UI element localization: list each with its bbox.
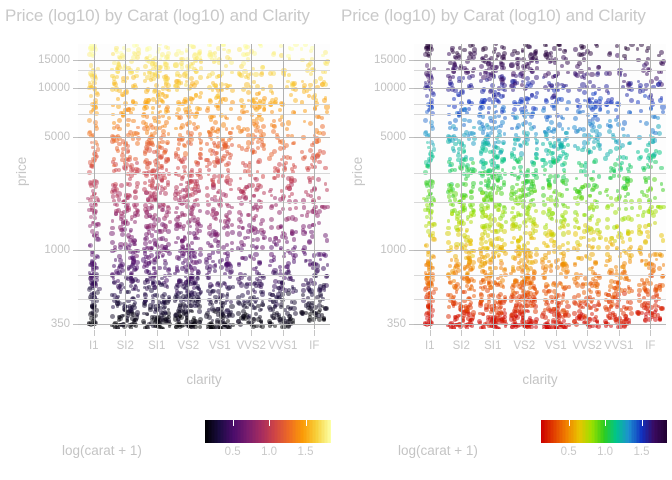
gridline-minor: [414, 70, 666, 71]
y-tick-mark: [73, 137, 78, 138]
gridline-minor: [414, 104, 666, 105]
gridline-minor: [78, 70, 330, 71]
x-tick-label-si2: SI2: [117, 340, 134, 352]
x-tick-mark: [461, 330, 462, 336]
gridline-vertical: [94, 44, 95, 329]
gridline-major: [78, 137, 330, 138]
gridline-vertical: [493, 44, 494, 329]
x-tick-mark: [430, 330, 431, 336]
panel-right-scatter-points: [414, 44, 666, 329]
gridline-vertical: [430, 44, 431, 329]
y-tick-label: 1000: [44, 244, 70, 256]
x-tick-mark: [220, 330, 221, 336]
panel-right-plot-area: [414, 44, 666, 329]
x-tick-mark: [188, 330, 189, 336]
gridline-minor: [414, 114, 666, 115]
y-tick-mark: [409, 324, 414, 325]
x-tick-mark: [556, 330, 557, 336]
gridline-vertical: [220, 44, 221, 329]
gridline-major: [78, 324, 330, 325]
gridline-vertical: [650, 44, 651, 329]
y-tick-label: 350: [387, 318, 406, 330]
x-tick-mark: [314, 330, 315, 336]
gridline-minor: [78, 173, 330, 174]
x-tick-label-vs1: VS1: [209, 340, 231, 352]
x-tick-mark: [157, 330, 158, 336]
x-tick-mark: [283, 330, 284, 336]
y-tick-mark: [409, 250, 414, 251]
panel-right-colorbar: [541, 420, 667, 443]
colorbar-tick-label: 1.0: [261, 446, 277, 458]
y-tick-mark: [73, 88, 78, 89]
gridline-minor: [78, 275, 330, 276]
y-tick-label: 15000: [374, 54, 406, 66]
y-tick-label: 350: [51, 318, 70, 330]
panel-right-title: Price (log10) by Carat (log10) and Clari…: [341, 6, 672, 26]
x-tick-mark: [251, 330, 252, 336]
y-tick-label: 5000: [380, 131, 406, 143]
x-tick-mark: [650, 330, 651, 336]
y-tick-mark: [73, 60, 78, 61]
x-tick-label-vs2: VS2: [513, 340, 535, 352]
x-tick-label-vvs1: VVS1: [604, 340, 633, 352]
panel-left-y-axis-title: price: [14, 157, 29, 186]
gridline-major: [78, 250, 330, 251]
panel-left-legend-label: log(carat + 1): [62, 443, 142, 458]
x-tick-label-i1: I1: [89, 340, 99, 352]
gridline-major: [414, 250, 666, 251]
gridline-vertical: [188, 44, 189, 329]
x-tick-label-if: IF: [309, 340, 319, 352]
gridline-vertical: [524, 44, 525, 329]
y-tick-label: 15000: [38, 54, 70, 66]
gridline-vertical: [157, 44, 158, 329]
figure-canvas: Price (log10) by Carat (log10) and Clari…: [0, 0, 672, 480]
gridline-vertical: [125, 44, 126, 329]
gridline-vertical: [283, 44, 284, 329]
gridline-major: [78, 60, 330, 61]
panel-left-plot-area: [78, 44, 330, 329]
x-tick-label-vvs2: VVS2: [573, 340, 602, 352]
x-tick-label-i1: I1: [425, 340, 435, 352]
gridline-vertical: [461, 44, 462, 329]
y-tick-label: 10000: [374, 82, 406, 94]
x-tick-label-vs1: VS1: [545, 340, 567, 352]
gridline-major: [414, 60, 666, 61]
x-tick-mark: [587, 330, 588, 336]
x-tick-label-if: IF: [645, 340, 655, 352]
x-tick-mark: [94, 330, 95, 336]
x-tick-mark: [524, 330, 525, 336]
gridline-minor: [414, 275, 666, 276]
gridline-minor: [78, 299, 330, 300]
x-tick-label-vvs2: VVS2: [237, 340, 266, 352]
colorbar-tick-label: 1.0: [597, 446, 613, 458]
colorbar-tick-label: 1.5: [634, 446, 650, 458]
y-tick-mark: [73, 250, 78, 251]
x-tick-mark: [125, 330, 126, 336]
x-tick-label-si1: SI1: [484, 340, 501, 352]
gridline-minor: [414, 202, 666, 203]
colorbar-tick-label: 0.5: [561, 446, 577, 458]
gridline-vertical: [556, 44, 557, 329]
gridline-minor: [414, 173, 666, 174]
y-tick-mark: [73, 324, 78, 325]
gridline-major: [414, 88, 666, 89]
y-tick-mark: [409, 88, 414, 89]
x-tick-label-si2: SI2: [453, 340, 470, 352]
gridline-vertical: [619, 44, 620, 329]
gridline-minor: [78, 202, 330, 203]
gridline-vertical: [587, 44, 588, 329]
y-tick-label: 5000: [44, 131, 70, 143]
panel-left-scatter-points: [78, 44, 330, 329]
colorbar-tick-label: 1.5: [298, 446, 314, 458]
y-tick-mark: [409, 60, 414, 61]
x-tick-label-vvs1: VVS1: [268, 340, 297, 352]
panel-left: Price (log10) by Carat (log10) and Clari…: [0, 0, 336, 480]
panel-right-y-axis-title: price: [350, 157, 365, 186]
panel-left-colorbar: [205, 420, 331, 443]
panel-left-x-axis-title: clarity: [78, 372, 330, 387]
x-tick-mark: [619, 330, 620, 336]
gridline-minor: [78, 114, 330, 115]
x-tick-label-vs2: VS2: [177, 340, 199, 352]
gridline-minor: [414, 299, 666, 300]
y-tick-label: 10000: [38, 82, 70, 94]
gridline-major: [414, 137, 666, 138]
y-tick-mark: [409, 137, 414, 138]
panel-right-legend-label: log(carat + 1): [398, 443, 478, 458]
y-tick-label: 1000: [380, 244, 406, 256]
gridline-vertical: [251, 44, 252, 329]
x-tick-mark: [493, 330, 494, 336]
gridline-minor: [78, 104, 330, 105]
gridline-major: [78, 88, 330, 89]
colorbar-tick-label: 0.5: [225, 446, 241, 458]
panel-right-x-axis-title: clarity: [414, 372, 666, 387]
gridline-vertical: [314, 44, 315, 329]
x-tick-label-si1: SI1: [148, 340, 165, 352]
gridline-major: [414, 324, 666, 325]
panel-right: Price (log10) by Carat (log10) and Clari…: [336, 0, 672, 480]
